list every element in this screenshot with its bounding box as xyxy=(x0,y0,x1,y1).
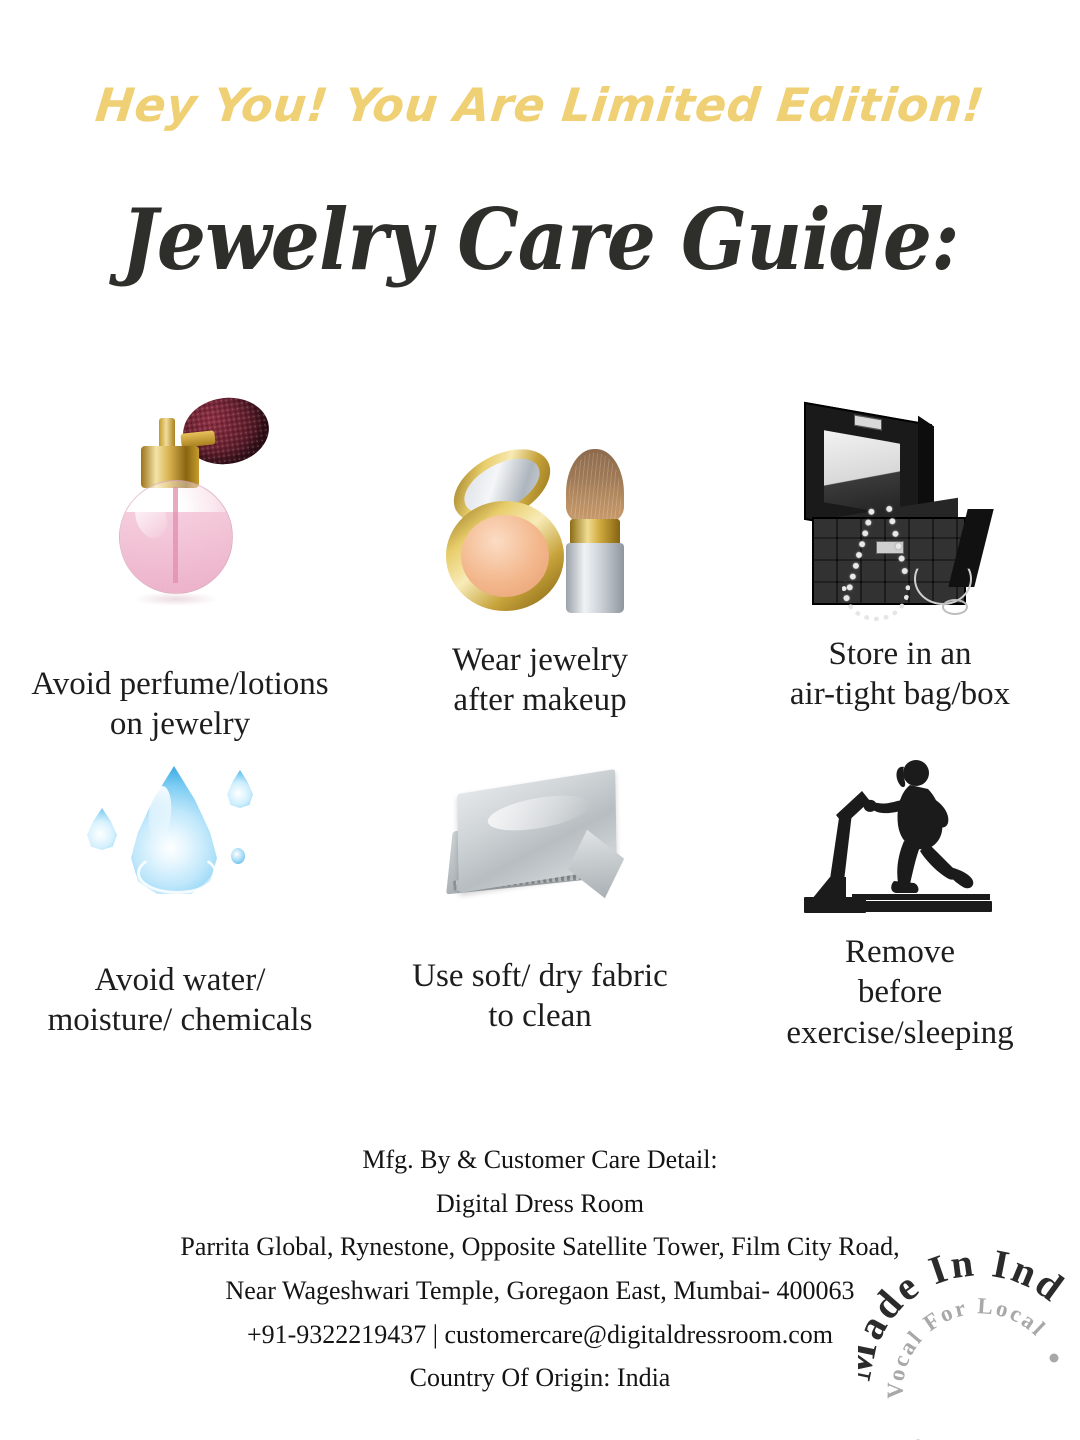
badge-dot-right xyxy=(1050,1354,1059,1363)
footer-line: Digital Dress Room xyxy=(0,1182,1080,1226)
care-tip-label: Remove before exercise/sleeping xyxy=(786,932,1013,1053)
care-tip-makeup: Wear jewelry after makeup xyxy=(360,378,720,746)
tagline: Hey You! You Are Limited Edition! xyxy=(0,78,1080,132)
footer-line: Mfg. By & Customer Care Detail: xyxy=(0,1138,1080,1182)
water-drop-icon xyxy=(0,746,360,916)
jewelry-box-icon xyxy=(720,378,1080,618)
care-tip-cloth: Use soft/ dry fabric to clean xyxy=(360,746,720,1076)
makeup-compact-brush-icon xyxy=(360,378,720,618)
perfume-bottle-icon xyxy=(0,378,360,618)
jewelry-care-guide-page: Hey You! You Are Limited Edition! Jewelr… xyxy=(0,0,1080,1440)
care-tips-row-1: Avoid perfume/lotions on jewelry Wear je… xyxy=(0,378,1080,746)
care-tip-water: Avoid water/ moisture/ chemicals xyxy=(0,746,360,1076)
care-tip-storage: Store in an air-tight bag/box xyxy=(720,378,1080,746)
care-tip-label: Avoid water/ moisture/ chemicals xyxy=(48,960,313,1041)
page-title: Jewelry Care Guide: xyxy=(43,190,1037,289)
care-tip-exercise: Remove before exercise/sleeping xyxy=(720,746,1080,1076)
care-tip-label: Store in an air-tight bag/box xyxy=(790,634,1010,715)
made-in-india-badge: Made In India Vocal For Local xyxy=(858,1248,1080,1440)
care-tips-row-2: Avoid water/ moisture/ chemicals Use sof… xyxy=(0,746,1080,1076)
care-tip-label: Wear jewelry after makeup xyxy=(452,640,628,721)
care-tip-label: Use soft/ dry fabric to clean xyxy=(412,956,668,1037)
care-tips-grid: Avoid perfume/lotions on jewelry Wear je… xyxy=(0,378,1080,1076)
treadmill-runner-icon xyxy=(720,746,1080,916)
care-tip-perfume: Avoid perfume/lotions on jewelry xyxy=(0,378,360,746)
care-tip-label: Avoid perfume/lotions on jewelry xyxy=(31,664,328,745)
polishing-cloth-icon xyxy=(360,746,720,916)
